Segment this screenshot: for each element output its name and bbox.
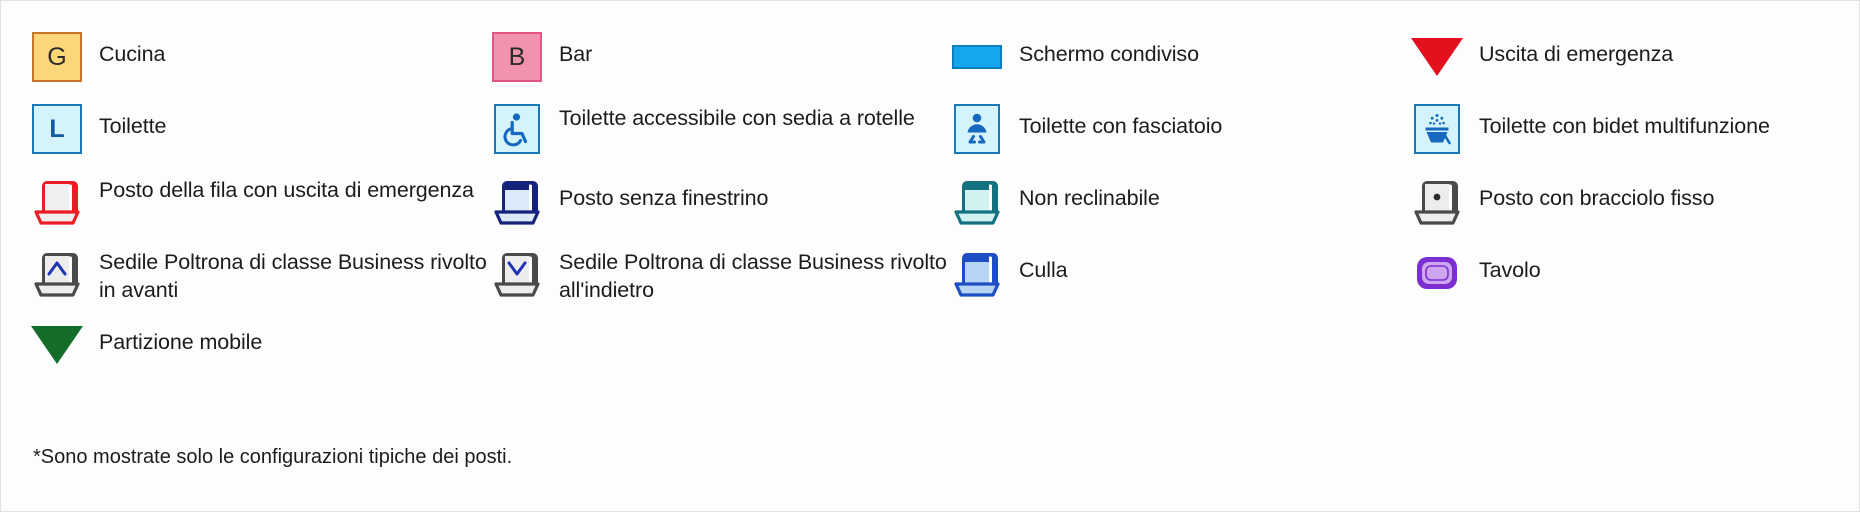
legend-item-no-window-seat[interactable]: Posto senza finestrino <box>491 171 951 243</box>
table-icon <box>1411 247 1463 299</box>
legend-label-galley: Cucina <box>99 31 165 68</box>
business-seat-forward-icon <box>31 247 83 299</box>
galley-tile-icon: G <box>31 31 83 83</box>
legend-label-lavatory: Toilette <box>99 103 166 140</box>
legend-item-lavatory[interactable]: L Toilette <box>31 99 491 171</box>
legend-label-exit-row-seat: Posto della fila con uscita di emergenza <box>99 175 474 204</box>
exit-row-seat-icon <box>31 175 83 227</box>
legend-label-wheelchair-lavatory: Toilette accessibile con sedia a rotelle <box>559 103 915 132</box>
movable-partition-triangle <box>31 326 83 364</box>
legend-label-bar: Bar <box>559 31 592 68</box>
baby-changing-icon <box>951 103 1003 155</box>
fixed-armrest-seat-icon <box>1411 175 1463 227</box>
legend-item-no-recline-seat[interactable]: Non reclinabile <box>951 171 1411 243</box>
shared-screen-rectangle <box>952 45 1002 69</box>
legend-item-exit-row-seat[interactable]: Posto della fila con uscita di emergenza <box>31 171 491 243</box>
business-seat-backward-icon <box>491 247 543 299</box>
legend-label-baby-changing: Toilette con fasciatoio <box>1019 103 1222 140</box>
lavatory-tile-icon: L <box>31 103 83 155</box>
galley-tile-glyph: G <box>32 32 82 82</box>
bidet-multifunction-icon <box>1411 103 1463 155</box>
legend-label-table: Tavolo <box>1479 247 1541 284</box>
legend-item-fixed-armrest-seat[interactable]: Posto con bracciolo fisso <box>1411 171 1860 243</box>
legend-item-bassinet[interactable]: Culla <box>951 243 1411 315</box>
legend-label-business-seat-forward: Sedile Poltrona di classe Business rivol… <box>99 247 491 304</box>
legend-item-business-seat-forward[interactable]: Sedile Poltrona di classe Business rivol… <box>31 243 491 315</box>
emergency-exit-triangle <box>1411 38 1463 76</box>
legend-item-wheelchair-lavatory[interactable]: Toilette accessibile con sedia a rotelle <box>491 99 951 171</box>
legend-label-bidet-lavatory: Toilette con bidet multifunzione <box>1479 103 1770 140</box>
legend-cell-empty-3 <box>1411 315 1860 387</box>
legend-item-bidet-lavatory[interactable]: Toilette con bidet multifunzione <box>1411 99 1860 171</box>
legend-item-baby-changing[interactable]: Toilette con fasciatoio <box>951 99 1411 171</box>
legend-footnote: *Sono mostrate solo le configurazioni ti… <box>33 446 512 469</box>
bidet-picto-tile <box>1414 104 1460 154</box>
legend-item-table[interactable]: Tavolo <box>1411 243 1860 315</box>
shared-screen-icon <box>951 31 1003 83</box>
movable-partition-icon <box>31 319 83 371</box>
legend-item-movable-partition[interactable]: Partizione mobile <box>31 315 491 387</box>
legend-label-no-window-seat: Posto senza finestrino <box>559 175 768 212</box>
bassinet-seat-icon <box>951 247 1003 299</box>
wheelchair-accessible-icon <box>491 103 543 155</box>
baby-changing-picto-tile <box>954 104 1000 154</box>
legend-item-shared-screen[interactable]: Schermo condiviso <box>951 27 1411 99</box>
bar-tile-glyph: B <box>492 32 542 82</box>
non-reclining-seat-icon <box>951 175 1003 227</box>
seat-map-legend-panel: G Cucina B Bar Schermo condiviso Uscita … <box>0 0 1860 512</box>
legend-label-bassinet: Culla <box>1019 247 1068 284</box>
legend-grid: G Cucina B Bar Schermo condiviso Uscita … <box>31 27 1829 387</box>
legend-label-business-seat-backward: Sedile Poltrona di classe Business rivol… <box>559 247 951 304</box>
lavatory-tile-glyph: L <box>32 104 82 154</box>
legend-label-no-recline-seat: Non reclinabile <box>1019 175 1160 212</box>
legend-label-movable-partition: Partizione mobile <box>99 319 262 356</box>
legend-item-galley[interactable]: G Cucina <box>31 27 491 99</box>
bar-tile-icon: B <box>491 31 543 83</box>
wheelchair-picto-tile <box>494 104 540 154</box>
legend-cell-empty-2 <box>951 315 1411 387</box>
emergency-exit-triangle-icon <box>1411 31 1463 83</box>
legend-cell-empty-1 <box>491 315 951 387</box>
legend-item-bar[interactable]: B Bar <box>491 27 951 99</box>
legend-label-shared-screen: Schermo condiviso <box>1019 31 1199 68</box>
no-window-seat-icon <box>491 175 543 227</box>
legend-item-business-seat-backward[interactable]: Sedile Poltrona di classe Business rivol… <box>491 243 951 315</box>
legend-label-fixed-armrest-seat: Posto con bracciolo fisso <box>1479 175 1714 212</box>
legend-label-emergency-exit: Uscita di emergenza <box>1479 31 1673 68</box>
legend-item-emergency-exit[interactable]: Uscita di emergenza <box>1411 27 1860 99</box>
